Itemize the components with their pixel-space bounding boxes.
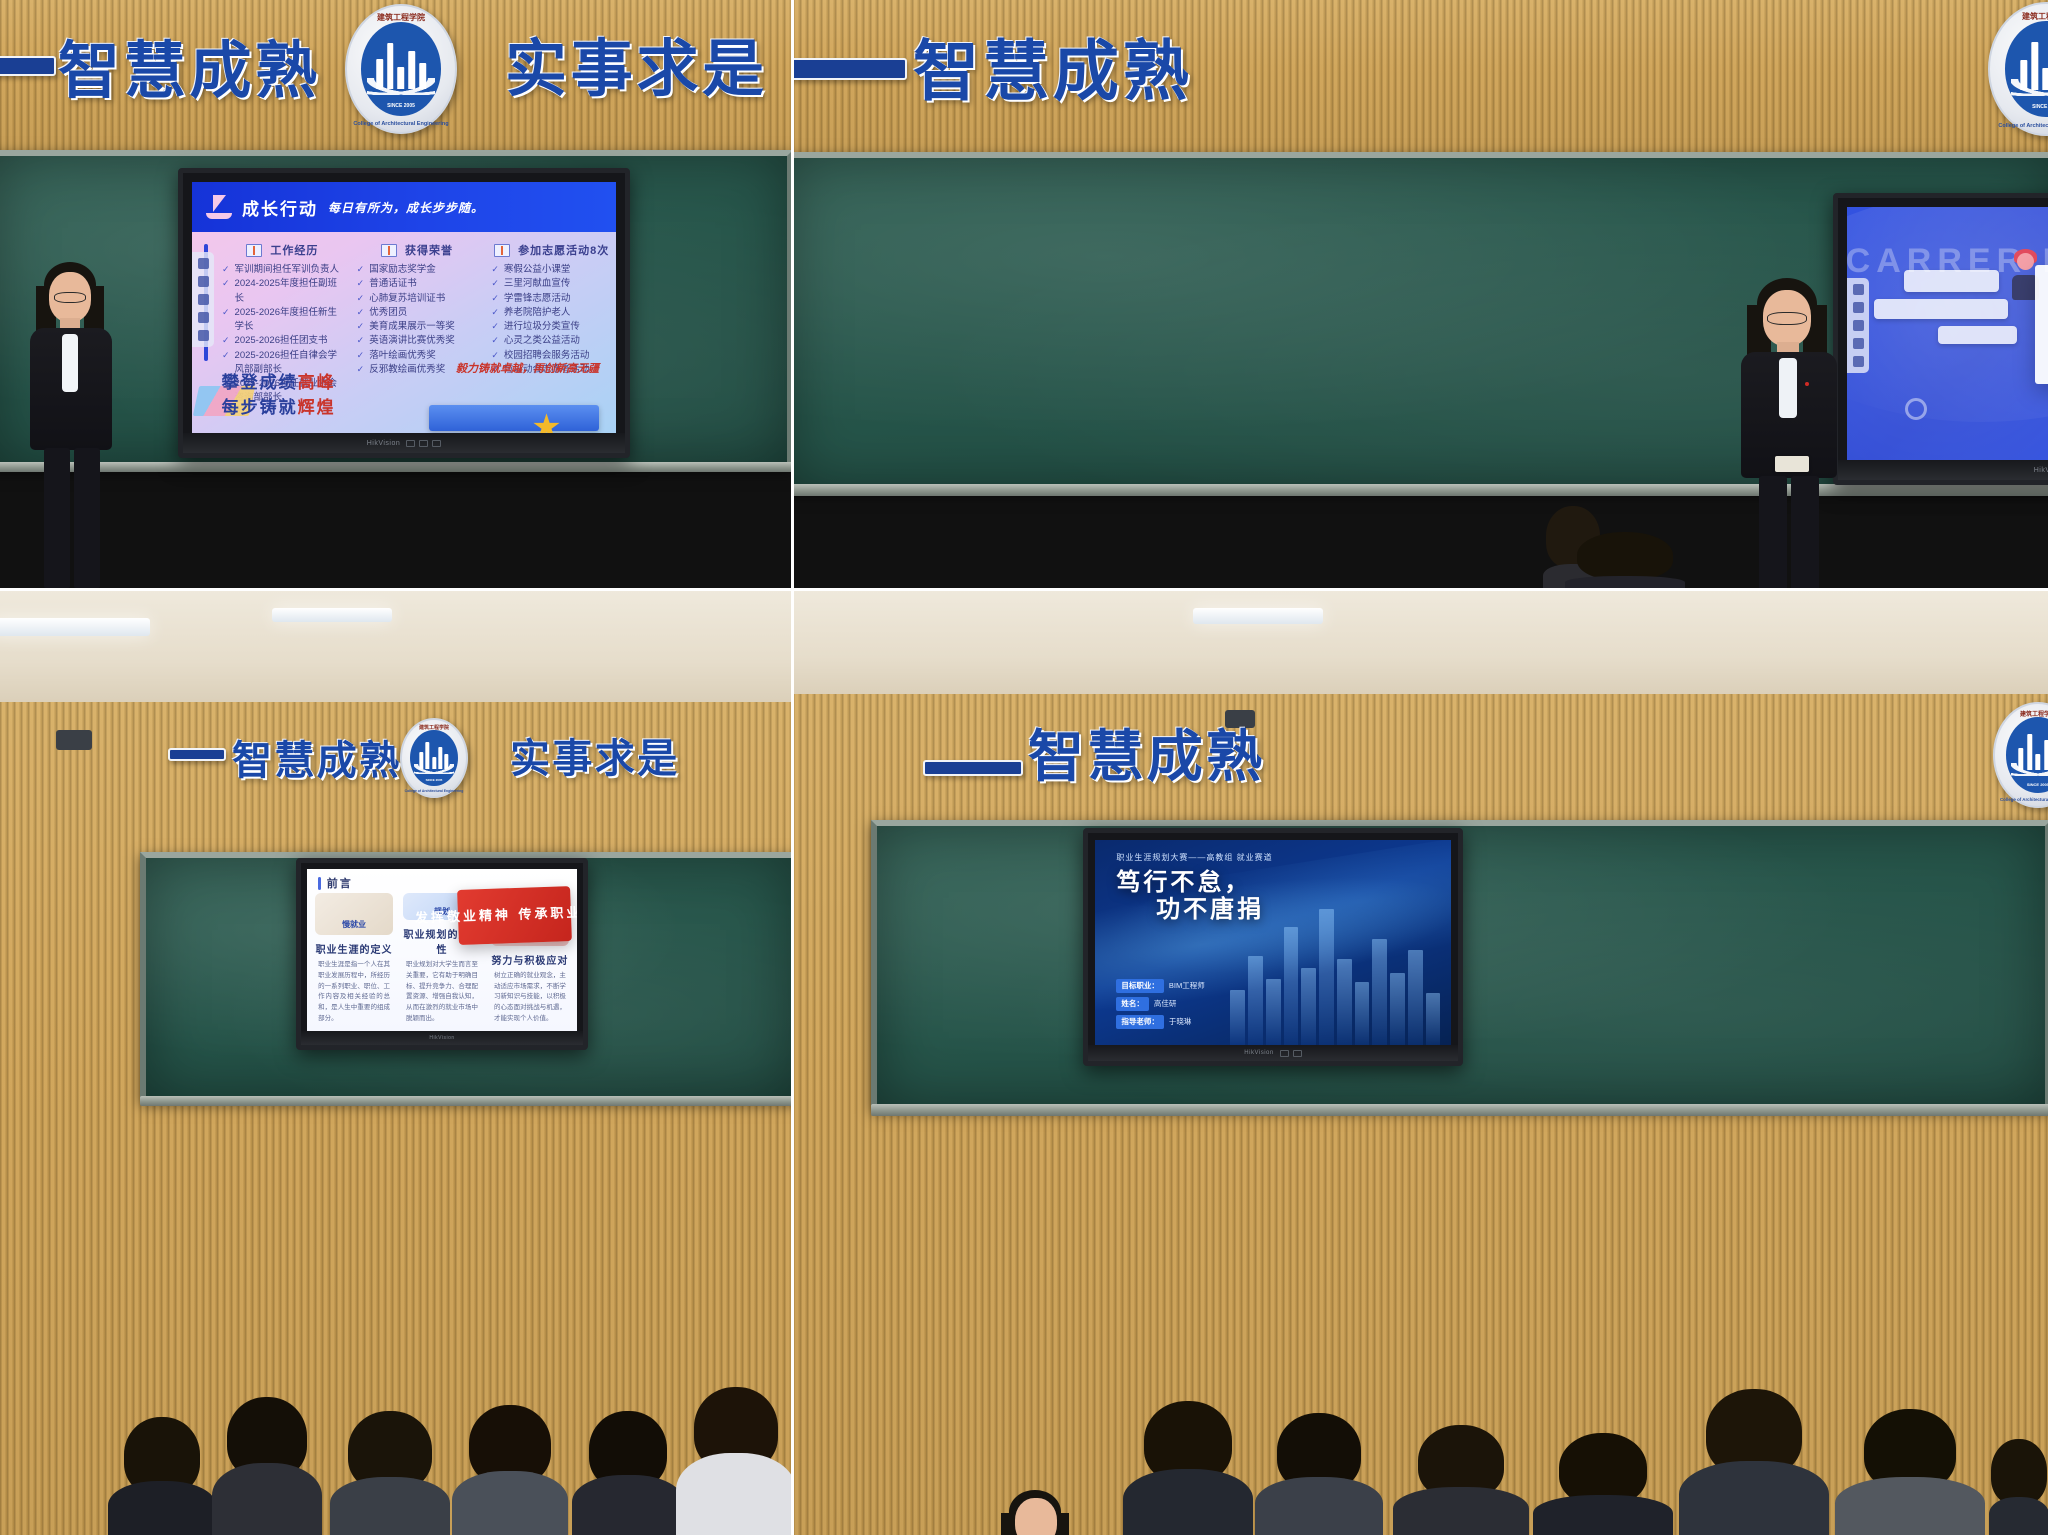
emblem-wave-icon xyxy=(367,78,434,95)
interactive-whiteboard-1[interactable]: 成长行动 每日有所为，成长步步随。 工作经历 xyxy=(178,168,630,458)
screen-chin-2: HikVision xyxy=(1838,460,2048,480)
presenter-1 xyxy=(22,262,122,590)
emblem-inner: SINCE 2005 xyxy=(361,22,441,115)
check-icon: ✓ xyxy=(222,277,230,291)
screen-chin-4: HikVision xyxy=(1088,1045,1458,1061)
check-icon: ✓ xyxy=(491,292,499,306)
head xyxy=(1577,532,1673,580)
audience-head xyxy=(1835,1415,1985,1535)
chalk-rail xyxy=(871,1104,2048,1116)
college-emblem: 建筑工程学院 SINCE 2005 College of Architectur… xyxy=(400,718,468,798)
shoulders xyxy=(1679,1461,1829,1535)
audience-head xyxy=(452,1407,568,1535)
check-icon: ✓ xyxy=(491,263,499,277)
head xyxy=(1991,1439,2047,1505)
screen-brand: HikVision xyxy=(429,1035,454,1041)
panel-bottom-right: 智慧成熟 建筑工程学院 SINCE 2005 College of Archit… xyxy=(793,590,2048,1535)
audience-head xyxy=(1123,1407,1253,1535)
list-item: ✓2024-2025年度担任副班长 xyxy=(222,277,343,306)
column-heading-volunteer-label: 参加志愿活动8次 xyxy=(518,242,609,258)
glasses-icon xyxy=(54,292,86,303)
column-heading-work-label: 工作经历 xyxy=(270,242,318,258)
shape-icon[interactable] xyxy=(198,294,209,305)
shoulders xyxy=(452,1471,568,1535)
check-icon: ✓ xyxy=(357,334,365,348)
ceiling xyxy=(793,590,2048,702)
check-icon: ✓ xyxy=(222,334,230,348)
eraser-icon[interactable] xyxy=(198,276,209,287)
emblem-bottom-arc: College of Architectural Engineering xyxy=(402,789,466,793)
shoulders xyxy=(1123,1469,1253,1535)
check-icon: ✓ xyxy=(491,277,499,291)
shoulders xyxy=(1989,1497,2048,1535)
audience-head xyxy=(212,1395,322,1535)
audience-head xyxy=(1255,1417,1383,1535)
presenter-2 xyxy=(1731,278,1847,590)
wall-text-left: 智慧成熟 xyxy=(58,20,321,110)
wall-dash-left xyxy=(168,748,226,761)
grid-icon[interactable] xyxy=(1853,338,1864,349)
head xyxy=(1015,1498,1057,1535)
check-icon: ✓ xyxy=(491,334,499,348)
emblem-since: SINCE 2005 xyxy=(410,778,457,782)
emblem-wave-icon xyxy=(414,764,454,774)
emblem-since: SINCE 2005 xyxy=(2006,782,2048,787)
screen-3[interactable]: 前言 慢就业 职业生涯的定义 职业生涯是指一个人在其职业发展历程中，所经历的一系… xyxy=(307,869,577,1031)
wall-text-left: 智慧成熟 xyxy=(1028,712,1265,793)
chalk-rail xyxy=(793,484,2048,496)
pen-icon[interactable] xyxy=(1853,284,1864,295)
list-item: ✓普通话证书 xyxy=(357,277,478,291)
emblem-inner: SINCE 2005 xyxy=(410,730,457,786)
panel-top-left: 智慧成熟 建筑工程学院 SINCE 2005 College of Archit… xyxy=(0,0,793,590)
audience-head xyxy=(1393,1431,1529,1535)
chalk-rail xyxy=(140,1096,793,1106)
trousers xyxy=(1791,476,1819,590)
glasses-icon xyxy=(1767,312,1807,325)
collage-divider-horizontal xyxy=(0,588,2048,591)
audience-head xyxy=(1989,1445,2048,1535)
trousers xyxy=(44,448,70,588)
slide3-col1-body: 职业生涯是指一个人在其职业发展历程中，所经历的一系列职业、职位、工作内容及相关经… xyxy=(315,960,393,1024)
presenter-4 xyxy=(985,1490,1091,1535)
slide3-col2-body: 职业规划对大学生而言至关重要，它有助于明确目标、提升竞争力、合理配置资源、增强自… xyxy=(403,960,481,1024)
security-camera-icon xyxy=(56,730,92,750)
wall-text-right: 实事求是 xyxy=(505,18,768,108)
gear-icon xyxy=(1905,398,1927,420)
grid-icon[interactable] xyxy=(198,312,209,323)
shoulders xyxy=(572,1475,684,1535)
screen-1[interactable]: 成长行动 每日有所为，成长步步随。 工作经历 xyxy=(192,182,616,433)
shirt-front xyxy=(1779,358,1797,418)
check-icon: ✓ xyxy=(491,320,499,334)
wall-dash-left xyxy=(923,760,1023,776)
slide3-red-banner: 发挥敬业精神 传承职业理想 xyxy=(457,886,572,945)
interactive-whiteboard-4[interactable]: 职业生涯规划大赛——高教组 就业赛道 笃行不怠， 功不唐捐 目标职业： BIM工… xyxy=(1083,828,1463,1066)
screen-chin-3: HikVision xyxy=(301,1031,583,1045)
slide3-col1-title: 职业生涯的定义 xyxy=(315,941,393,956)
shoulders xyxy=(108,1481,216,1535)
emblem-top-arc: 建筑工程学院 xyxy=(1990,11,2048,22)
wood-wall xyxy=(0,702,793,1535)
screen-brand: HikVision xyxy=(367,440,401,447)
interactive-whiteboard-2[interactable]: CARRER PLANNING 以匠心守初心 筑梦数字工管 Carrer pla… xyxy=(1833,193,2048,485)
slide-preface: 前言 慢就业 职业生涯的定义 职业生涯是指一个人在其职业发展历程中，所经历的一系… xyxy=(307,869,577,1031)
info-tag: 姓名： xyxy=(1116,997,1149,1011)
ceiling-light xyxy=(1193,608,1323,624)
accent-bar xyxy=(318,877,321,890)
ceiling xyxy=(0,590,793,710)
slide1-slogan-line2: 每步铸就辉煌 xyxy=(222,393,336,418)
slide3-section-label: 前言 xyxy=(327,875,353,891)
check-icon: ✓ xyxy=(222,306,230,320)
slide1-footer: ★ 毅力铸就卓越，再创新高无疆 攀登成绩高峰 每步铸就辉煌 xyxy=(192,355,616,433)
shoulders xyxy=(1533,1495,1673,1535)
shoulders xyxy=(212,1463,322,1535)
screen-buttons[interactable] xyxy=(1280,1050,1302,1057)
headline-line-2: 功不唐捐 xyxy=(1156,896,1337,923)
lapel-pin-icon xyxy=(1805,382,1809,386)
shoulders xyxy=(676,1453,793,1535)
info-tag: 目标职业： xyxy=(1116,979,1164,993)
slide-perseverance: 职业生涯规划大赛——高教组 就业赛道 笃行不怠， 功不唐捐 目标职业： BIM工… xyxy=(1095,840,1451,1045)
info-row: 目标职业： BIM工程师 xyxy=(1116,979,1204,993)
emblem-bottom-arc: College of Architectural Engineering xyxy=(1990,123,2048,129)
wall-dash-left xyxy=(0,56,56,76)
screen-buttons[interactable] xyxy=(406,440,441,447)
list-item: ✓心肺复苏培训证书 xyxy=(357,292,478,306)
audience-head xyxy=(108,1425,216,1535)
headline-line-1: 笃行不怠， xyxy=(1116,869,1337,896)
shoulders xyxy=(330,1477,450,1535)
slide3-section-header: 前言 xyxy=(318,875,353,891)
list-item: ✓优秀团员 xyxy=(357,306,478,320)
slide4-headline: 笃行不怠， 功不唐捐 xyxy=(1116,869,1337,923)
check-icon: ✓ xyxy=(357,263,365,277)
list-item: ✓2025-2026担任团支书 xyxy=(222,334,343,348)
sailboat-icon xyxy=(206,195,232,219)
shape-icon[interactable] xyxy=(1853,320,1864,331)
interactive-whiteboard-3[interactable]: 前言 慢就业 职业生涯的定义 职业生涯是指一个人在其职业发展历程中，所经历的一系… xyxy=(296,858,588,1050)
info-value: 于晓琳 xyxy=(1169,1016,1192,1027)
illustration-1-tagline: 慢就业 xyxy=(342,919,366,930)
check-icon: ✓ xyxy=(357,320,365,334)
held-notes xyxy=(1775,456,1809,472)
list-item: ✓2025-2026年度担任新生学长 xyxy=(222,306,343,335)
panel-bottom-left: 智慧成熟 建筑工程学院 SINCE 2005 College of Archit… xyxy=(0,590,793,1535)
pen-icon[interactable] xyxy=(198,258,209,269)
slide1-subtitle: 每日有所为，成长步步随。 xyxy=(328,199,484,216)
column-heading-work: 工作经历 xyxy=(222,242,343,258)
panel-top-right: 智慧成熟 建筑工程学院 SINCE 2005 College of Archit… xyxy=(793,0,2048,590)
slide1-title: 成长行动 xyxy=(242,195,318,220)
photo-collage: 智慧成熟 建筑工程学院 SINCE 2005 College of Archit… xyxy=(0,0,2048,1535)
info-tag: 指导老师： xyxy=(1116,1015,1164,1029)
emblem-bottom-arc: College of Architectural Engineering xyxy=(347,121,455,127)
emblem-since: SINCE 2005 xyxy=(361,103,441,109)
check-icon: ✓ xyxy=(357,277,365,291)
slide3-col3-title: 努力与积极应对 xyxy=(491,952,569,967)
check-icon: ✓ xyxy=(357,306,365,320)
audience-head xyxy=(330,1417,450,1535)
column-heading-honors-label: 获得荣誉 xyxy=(405,242,453,258)
screen-toolbar-2[interactable] xyxy=(1847,278,1869,373)
book-icon xyxy=(494,244,510,257)
wall-text-left: 智慧成熟 xyxy=(232,728,402,786)
shirt-front xyxy=(62,334,78,392)
college-emblem: 建筑工程学院 SINCE 2005 College of Architectur… xyxy=(345,4,457,134)
collage-divider-vertical xyxy=(791,0,794,1535)
wall-text-right: 实事求是 xyxy=(510,726,680,784)
eraser-icon[interactable] xyxy=(1853,302,1864,313)
trousers xyxy=(74,448,100,588)
check-icon: ✓ xyxy=(491,306,499,320)
ceiling-light xyxy=(0,618,150,636)
list-item: ✓英语演讲比赛优秀奖 xyxy=(357,334,478,348)
audience-head xyxy=(676,1385,793,1535)
info-row: 姓名： 高佳研 xyxy=(1116,997,1204,1011)
screen-toolbar-1[interactable] xyxy=(192,252,214,347)
slide-growth-action: 成长行动 每日有所为，成长步步随。 工作经历 xyxy=(192,182,616,433)
book-icon xyxy=(246,244,262,257)
ceiling-light xyxy=(272,608,392,622)
emblem-inner: SINCE 2005 xyxy=(2005,21,2048,117)
check-icon: ✓ xyxy=(357,292,365,306)
shoulders xyxy=(1255,1477,1383,1535)
list-item: ✓三里河献血宣传 xyxy=(491,277,612,291)
city-skyline-graphic xyxy=(1230,902,1451,1046)
list-item: ✓寒假公益小课堂 xyxy=(491,263,612,277)
wall-dash-left xyxy=(793,58,907,80)
info-value: BIM工程师 xyxy=(1169,980,1205,991)
column-heading-honors: 获得荣誉 xyxy=(357,242,478,258)
list-item: ✓军训期间担任军训负责人 xyxy=(222,263,343,277)
info-value: 高佳研 xyxy=(1154,998,1177,1009)
column-heading-volunteer: 参加志愿活动8次 xyxy=(491,242,612,258)
podium-graphic xyxy=(429,405,599,431)
audience-head xyxy=(1533,1439,1673,1535)
slide1-header: 成长行动 每日有所为，成长步步随。 xyxy=(192,182,616,232)
audience-head xyxy=(572,1415,684,1535)
slide1-slogan-line1: 攀登成绩高峰 xyxy=(222,368,336,393)
slide1-motto: 毅力铸就卓越，再创新高无疆 xyxy=(456,360,599,376)
more-icon[interactable] xyxy=(1853,356,1864,367)
slide2-title-card: 以匠心守初心 筑梦数字工管 Carrer planning for colleg… xyxy=(2035,265,2048,384)
screen-brand: HikVision xyxy=(2034,467,2048,474)
slide4-top-label: 职业生涯规划大赛——高教组 就业赛道 xyxy=(1116,852,1272,863)
screen-chin-1: HikVision xyxy=(183,433,625,453)
slide-carrer-planning: CARRER PLANNING 以匠心守初心 筑梦数字工管 Carrer pla… xyxy=(1847,207,2048,460)
more-icon[interactable] xyxy=(198,330,209,341)
wall-text-left: 智慧成熟 xyxy=(913,18,1193,114)
check-icon: ✓ xyxy=(222,263,230,277)
trousers xyxy=(1759,476,1787,590)
screen-brand: HikVision xyxy=(1244,1050,1273,1056)
list-item: ✓心灵之类公益活动 xyxy=(491,334,612,348)
screen-2[interactable]: CARRER PLANNING 以匠心守初心 筑梦数字工管 Carrer pla… xyxy=(1847,207,2048,460)
list-item: ✓进行垃圾分类宣传 xyxy=(491,320,612,334)
list-item: ✓学雷锋志愿活动 xyxy=(491,292,612,306)
emblem-since: SINCE 2005 xyxy=(2005,104,2048,110)
emblem-wave-icon xyxy=(2011,763,2048,777)
shoulders xyxy=(1835,1477,1985,1535)
audience-head xyxy=(1565,538,1685,590)
screen-4[interactable]: 职业生涯规划大赛——高教组 就业赛道 笃行不怠， 功不唐捐 目标职业： BIM工… xyxy=(1095,840,1451,1045)
list-item: ✓国家励志奖学金 xyxy=(357,263,478,277)
audience-head xyxy=(1679,1395,1829,1535)
emblem-bottom-arc: College of Architectural Engineering xyxy=(1995,797,2048,802)
slide3-column-definition: 慢就业 职业生涯的定义 职业生涯是指一个人在其职业发展历程中，所经历的一系列职业… xyxy=(315,893,393,1024)
emblem-inner: SINCE 2005 xyxy=(2006,717,2048,792)
list-item: ✓养老院陪护老人 xyxy=(491,306,612,320)
slide4-info-block: 目标职业： BIM工程师 姓名： 高佳研 指导老师： 于晓琳 xyxy=(1116,979,1204,1029)
emblem-wave-icon xyxy=(2011,79,2048,96)
shoulders xyxy=(1393,1487,1529,1535)
slide3-col3-body: 树立正确的就业观念，主动适应市场需求，不断学习新知识与技能，以积极的心态面对挑战… xyxy=(491,971,569,1025)
info-row: 指导老师： 于晓琳 xyxy=(1116,1015,1204,1029)
illustration-1: 慢就业 xyxy=(315,893,393,935)
list-item: ✓美育成果展示一等奖 xyxy=(357,320,478,334)
book-icon xyxy=(381,244,397,257)
